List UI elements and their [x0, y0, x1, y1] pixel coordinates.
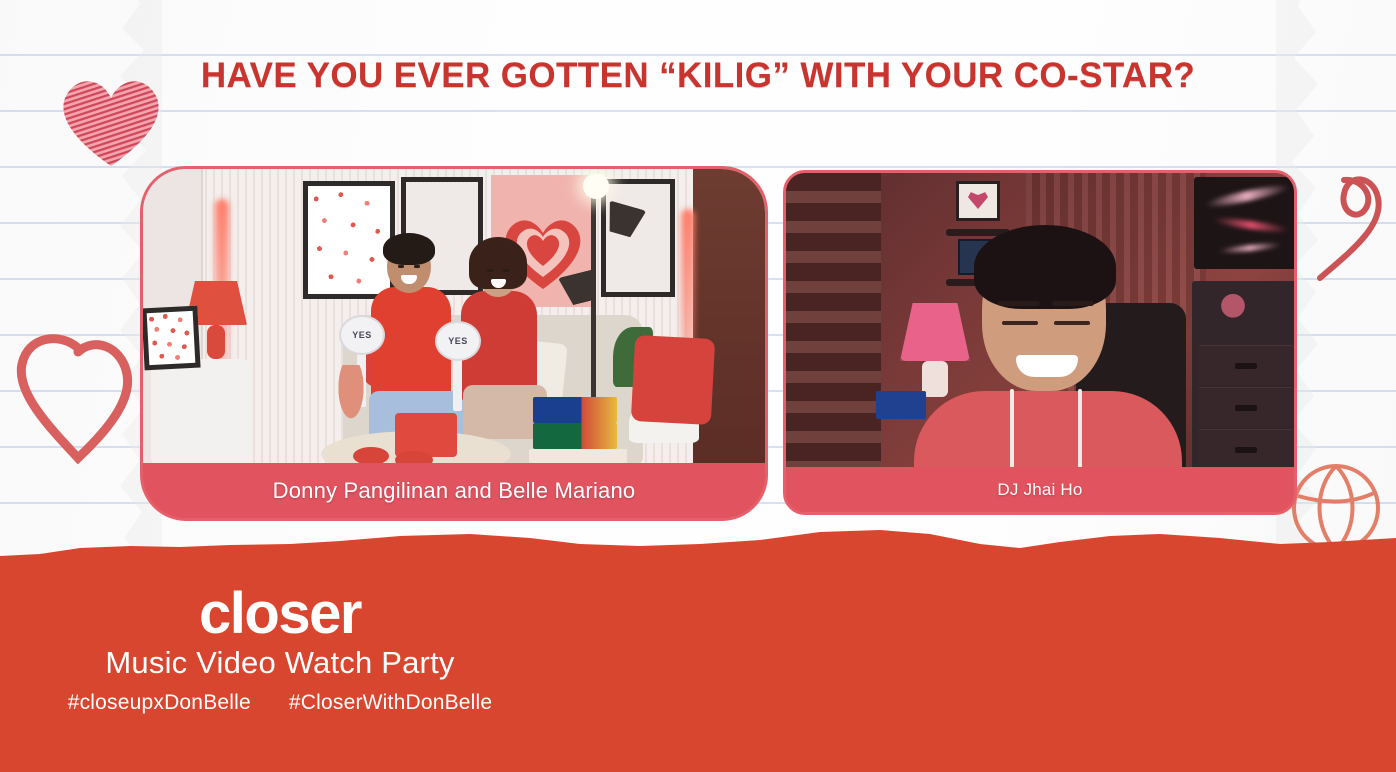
neon-wall-art [1194, 177, 1294, 269]
window-blinds [786, 173, 881, 473]
lamp-base [207, 325, 225, 359]
closeup-box-right-room [876, 391, 926, 419]
heart-box-on-table [395, 413, 457, 457]
video-tile-right[interactable]: DJ Jhai Ho [783, 170, 1297, 515]
dresser-ornament [1210, 285, 1256, 337]
yes-sign-label-right: YES [448, 336, 468, 346]
video-feed-left: YES YES [143, 169, 765, 469]
bottom-banner: closer Music Video Watch Party #closeupx… [0, 562, 1396, 772]
closer-wordmark: closer [0, 584, 560, 643]
name-label-right-text: DJ Jhai Ho [997, 480, 1082, 500]
dresser-drawer-2 [1198, 387, 1294, 427]
framed-heart-art-small [143, 306, 201, 371]
hashtag-2: #CloserWithDonBelle [289, 691, 492, 715]
red-cushion-chair [631, 335, 715, 425]
name-label-left-text: Donny Pangilinan and Belle Mariano [273, 478, 636, 504]
closeup-box-bottom [533, 423, 617, 449]
banner-subtitle: Music Video Watch Party [0, 645, 560, 681]
dresser-drawer-1 [1198, 345, 1294, 385]
neon-streak-2 [1212, 216, 1290, 235]
page-title: HAVE YOU EVER GOTTEN “KILIG” WITH YOUR C… [0, 56, 1396, 96]
heart-pattern-poster [303, 181, 395, 299]
flower-vase [329, 365, 373, 441]
pink-lamp-shade [900, 303, 970, 361]
dresser-drawer-3 [1198, 429, 1294, 469]
books-stack [529, 449, 627, 463]
broadcast-overlay: HAVE YOU EVER GOTTEN “KILIG” WITH YOUR C… [0, 0, 1396, 772]
video-feed-right [786, 173, 1294, 473]
side-cabinet [151, 359, 251, 467]
name-label-left: Donny Pangilinan and Belle Mariano [143, 463, 765, 518]
studio-scene: YES YES [143, 169, 765, 469]
neon-streak-1 [1204, 182, 1290, 210]
yes-sign-right: YES [435, 321, 481, 361]
sign-handle-right [453, 357, 462, 411]
closer-brand-block: closer Music Video Watch Party #closeupx… [0, 584, 560, 715]
lamp-bulb-upper [583, 173, 609, 199]
yes-sign-label-left: YES [352, 330, 372, 340]
neon-streak-3 [1218, 242, 1282, 255]
banner-torn-edge [0, 522, 1396, 584]
yes-sign-left: YES [339, 315, 385, 355]
hashtag-row: #closeupxDonBelle #CloserWithDonBelle [0, 691, 560, 715]
webcam-room-scene [786, 173, 1294, 473]
name-label-right: DJ Jhai Ho [786, 467, 1294, 512]
closeup-box-top [533, 397, 617, 423]
empty-frame-2 [601, 179, 675, 297]
video-tile-left[interactable]: YES YES [140, 166, 768, 521]
hashtag-1: #closeupxDonBelle [68, 691, 251, 715]
